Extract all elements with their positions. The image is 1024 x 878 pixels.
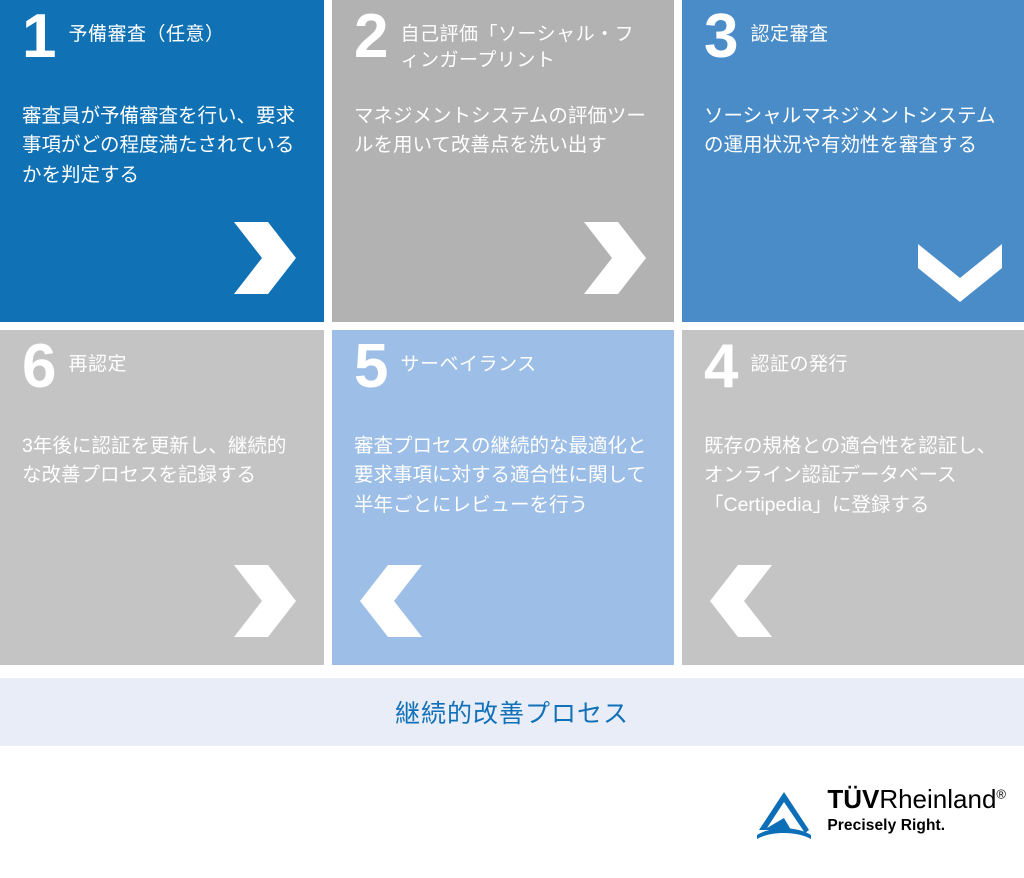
process-step-card-5: 5 サーベイランス 審査プロセスの継続的な最適化と要求事項に対する適合性に関して… <box>332 330 682 665</box>
step-title: 認定審査 <box>750 12 828 48</box>
registered-mark: ® <box>996 786 1006 801</box>
step-title: サーベイランス <box>400 342 536 378</box>
process-diagram-page: 1 予備審査（任意） 審査員が予備審査を行い、要求事項がどの程度満たされているか… <box>0 0 1024 878</box>
process-step-grid: 1 予備審査（任意） 審査員が予備審査を行い、要求事項がどの程度満たされているか… <box>0 0 1024 670</box>
chevron-right-icon <box>228 220 300 296</box>
card-header: 4 認証の発行 <box>704 342 1002 420</box>
step-title: 再認定 <box>68 342 127 378</box>
logo-name-bold: TÜV <box>827 784 879 814</box>
process-step-card-1: 1 予備審査（任意） 審査員が予備審査を行い、要求事項がどの程度満たされているか… <box>0 0 332 330</box>
process-step-card-6: 6 再認定 3年後に認証を更新し、継続的な改善プロセスを記録する <box>0 330 332 665</box>
step-number: 5 <box>354 338 386 395</box>
step-title: 予備審査（任意） <box>68 12 224 48</box>
card-header: 2 自己評価「ソーシャル・フィンガープリント <box>354 12 652 90</box>
logo-tagline: Precisely Right. <box>827 817 1006 835</box>
step-description: 審査員が予備審査を行い、要求事項がどの程度満たされているかを判定する <box>22 102 302 190</box>
step-description: ソーシャルマネジメントシステムの運用状況や有効性を審査する <box>704 102 1002 161</box>
process-step-card-4: 4 認証の発行 既存の規格との適合性を認証し、オンライン認証データベース「Cer… <box>682 330 1024 665</box>
chevron-left-icon <box>356 563 428 639</box>
continuous-improvement-band: 継続的改善プロセス <box>0 678 1024 746</box>
logo-name: TÜVRheinland® <box>827 786 1006 813</box>
step-number: 4 <box>704 338 736 395</box>
tuv-triangle-icon <box>755 790 813 842</box>
process-step-card-3: 3 認定審査 ソーシャルマネジメントシステムの運用状況や有効性を審査する <box>682 0 1024 330</box>
step-title: 認証の発行 <box>750 342 848 378</box>
step-number: 3 <box>704 8 736 65</box>
chevron-right-icon <box>578 220 650 296</box>
step-description: 既存の規格との適合性を認証し、オンライン認証データベース「Certipedia」… <box>704 432 1002 520</box>
step-description: 審査プロセスの継続的な最適化と要求事項に対する適合性に関して半年ごとにレビューを… <box>354 432 652 520</box>
step-description: マネジメントシステムの評価ツールを用いて改善点を洗い出す <box>354 102 652 161</box>
logo-name-regular: Rheinland <box>879 784 996 814</box>
chevron-right-icon <box>228 563 300 639</box>
step-number: 6 <box>22 338 54 395</box>
card-header: 5 サーベイランス <box>354 342 652 420</box>
chevron-down-icon <box>916 242 1004 304</box>
step-number: 2 <box>354 8 386 65</box>
step-number: 1 <box>22 8 54 65</box>
card-header: 1 予備審査（任意） <box>22 12 302 90</box>
tuv-rheinland-logo: TÜVRheinland® Precisely Right. <box>755 786 1006 842</box>
step-description: 3年後に認証を更新し、継続的な改善プロセスを記録する <box>22 432 302 491</box>
step-title: 自己評価「ソーシャル・フィンガープリント <box>400 12 652 73</box>
process-step-card-2: 2 自己評価「ソーシャル・フィンガープリント マネジメントシステムの評価ツールを… <box>332 0 682 330</box>
logo-wordmark: TÜVRheinland® Precisely Right. <box>827 786 1006 835</box>
chevron-left-icon <box>706 563 778 639</box>
card-header: 6 再認定 <box>22 342 302 420</box>
card-header: 3 認定審査 <box>704 12 1002 90</box>
band-label: 継続的改善プロセス <box>395 694 629 730</box>
